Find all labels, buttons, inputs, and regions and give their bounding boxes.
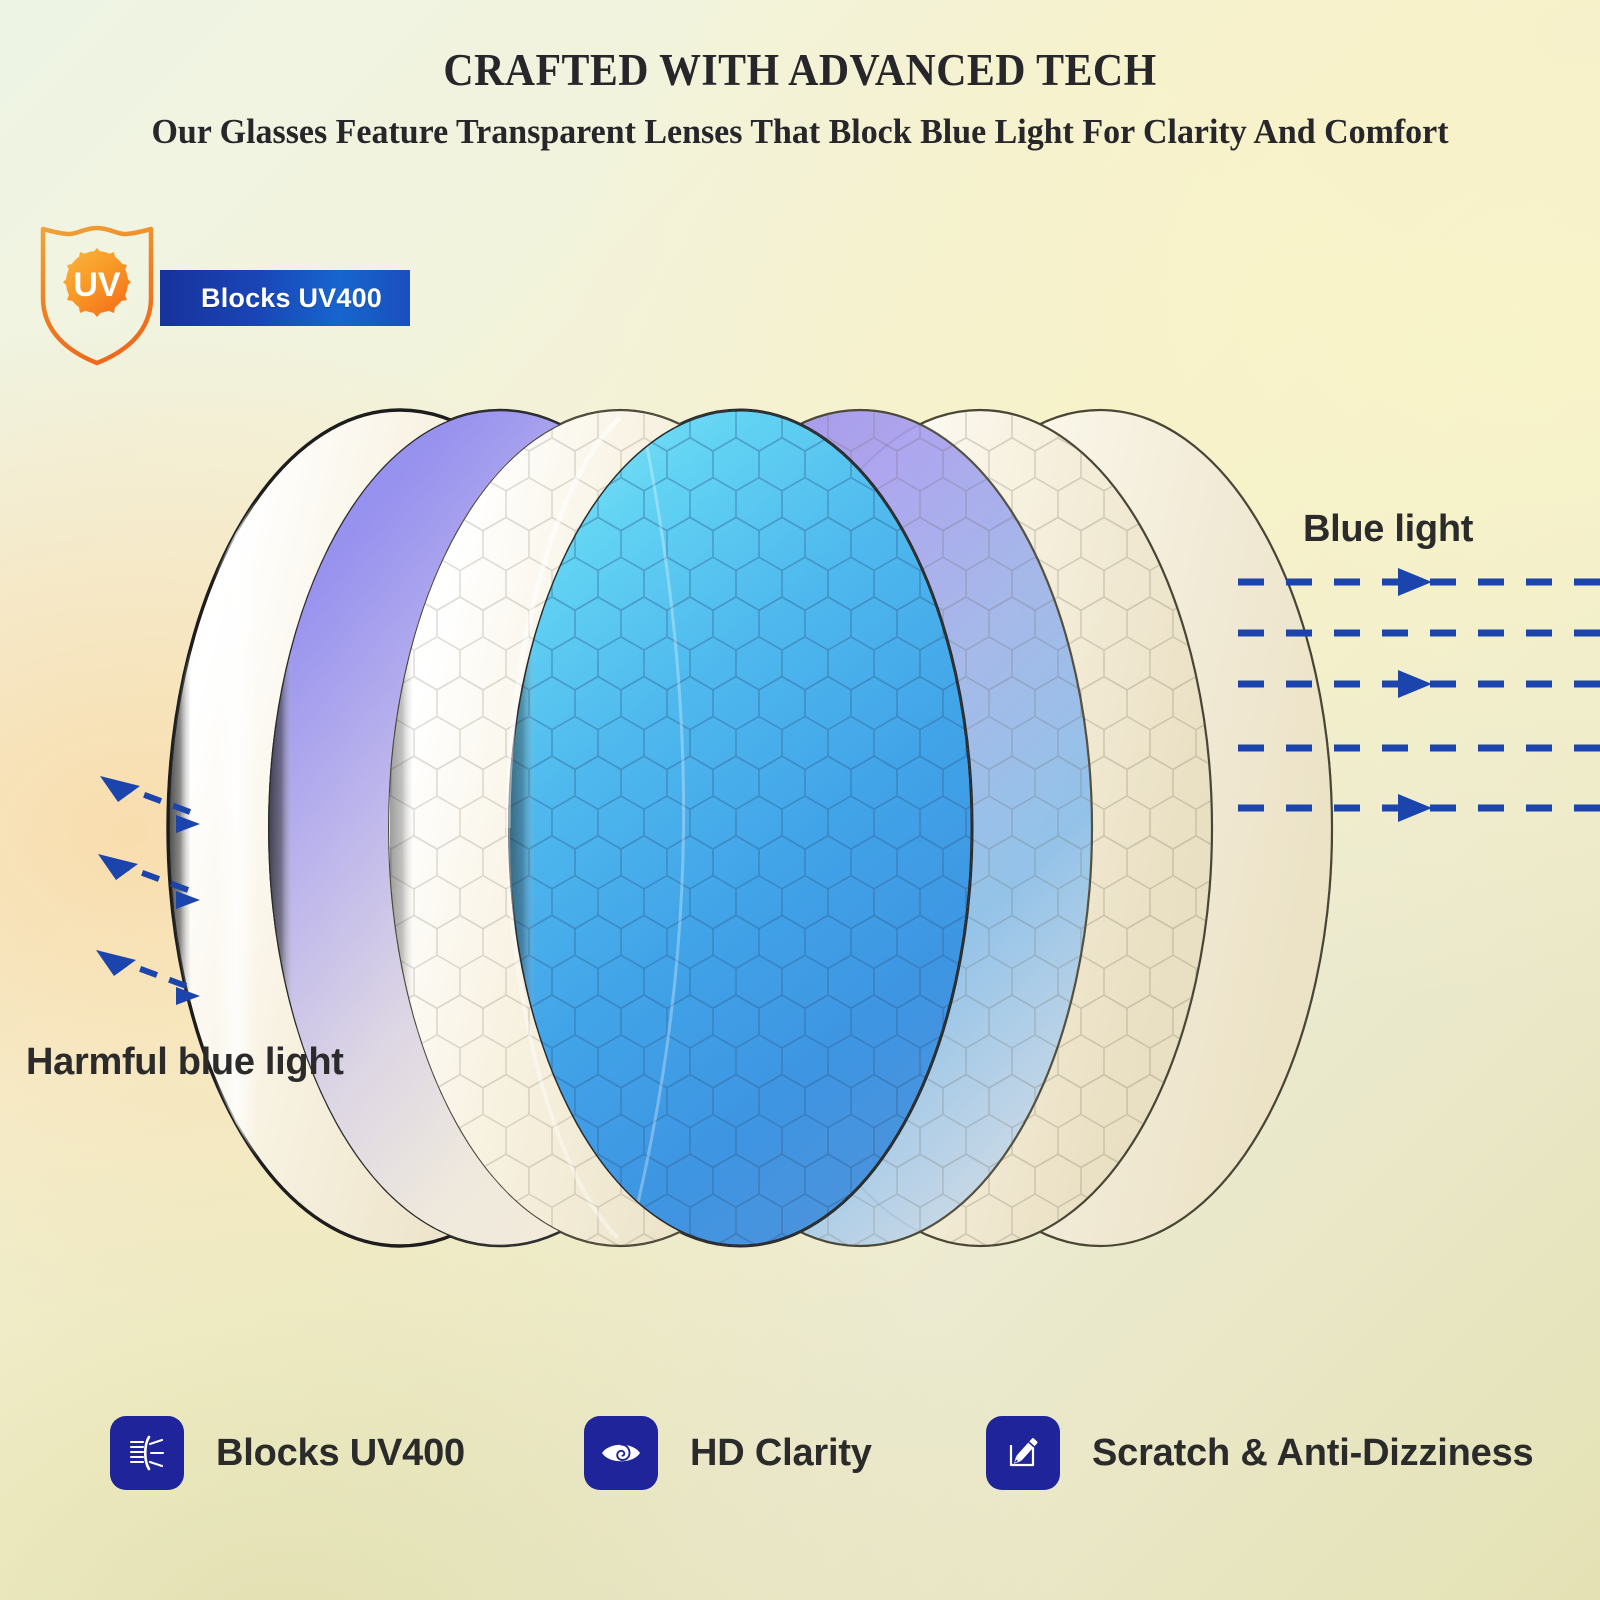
feature-label: Blocks UV400 [216, 1432, 465, 1475]
infographic-poster: CRAFTED WITH ADVANCED TECH Our Glasses F… [0, 0, 1600, 1600]
pencil-scratch-icon [986, 1416, 1060, 1490]
feature-list: Blocks UV400 HD Clarity [110, 1398, 1530, 1508]
feature-item-hd-clarity[interactable]: HD Clarity [584, 1398, 872, 1508]
uv-shield-label: UV [73, 266, 121, 304]
feature-item-blocks-uv400[interactable]: Blocks UV400 [110, 1398, 465, 1508]
blue-light-label: Blue light [1303, 508, 1473, 551]
uv-shield-icon: UV [33, 224, 161, 366]
page-subtitle: Our Glasses Feature Transparent Lenses T… [24, 112, 1576, 152]
eye-icon [584, 1416, 658, 1490]
uv400-label-text: Blocks UV400 [160, 283, 382, 314]
feature-label: HD Clarity [690, 1432, 872, 1475]
uv400-label-bar: Blocks UV400 [160, 270, 410, 326]
uv400-badge: UV Blocks UV400 [30, 222, 380, 372]
uv-rays-blocked-icon [110, 1416, 184, 1490]
feature-label: Scratch & Anti-Dizziness [1092, 1432, 1533, 1475]
feature-item-scratch-anti-dizziness[interactable]: Scratch & Anti-Dizziness [986, 1398, 1533, 1508]
page-title: CRAFTED WITH ADVANCED TECH [56, 44, 1544, 96]
harmful-blue-light-label: Harmful blue light [26, 1041, 344, 1084]
